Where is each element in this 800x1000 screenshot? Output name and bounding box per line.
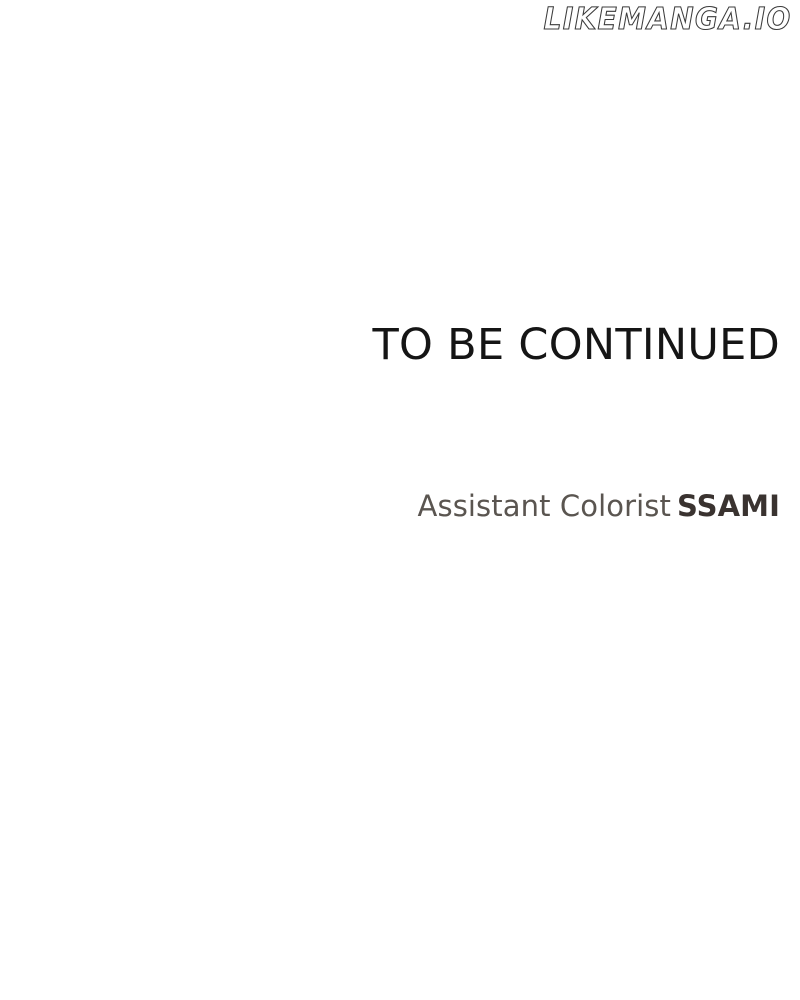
watermark-label: LIKEMANGA.IO bbox=[544, 5, 792, 35]
credits-block: TO BE CONTINUED Assistant ColoristSSAMI bbox=[0, 320, 780, 524]
credit-line: Assistant ColoristSSAMI bbox=[0, 489, 780, 524]
blank-panel-bottom bbox=[0, 560, 800, 1000]
site-watermark: LIKEMANGA.IO bbox=[525, 0, 792, 40]
to-be-continued-text: TO BE CONTINUED bbox=[0, 320, 780, 371]
blank-panel-top bbox=[0, 40, 800, 320]
credit-role-label: Assistant Colorist bbox=[418, 489, 671, 523]
credit-person-name: SSAMI bbox=[677, 489, 780, 523]
manga-page: LIKEMANGA.IO TO BE CONTINUED Assistant C… bbox=[0, 0, 800, 1000]
